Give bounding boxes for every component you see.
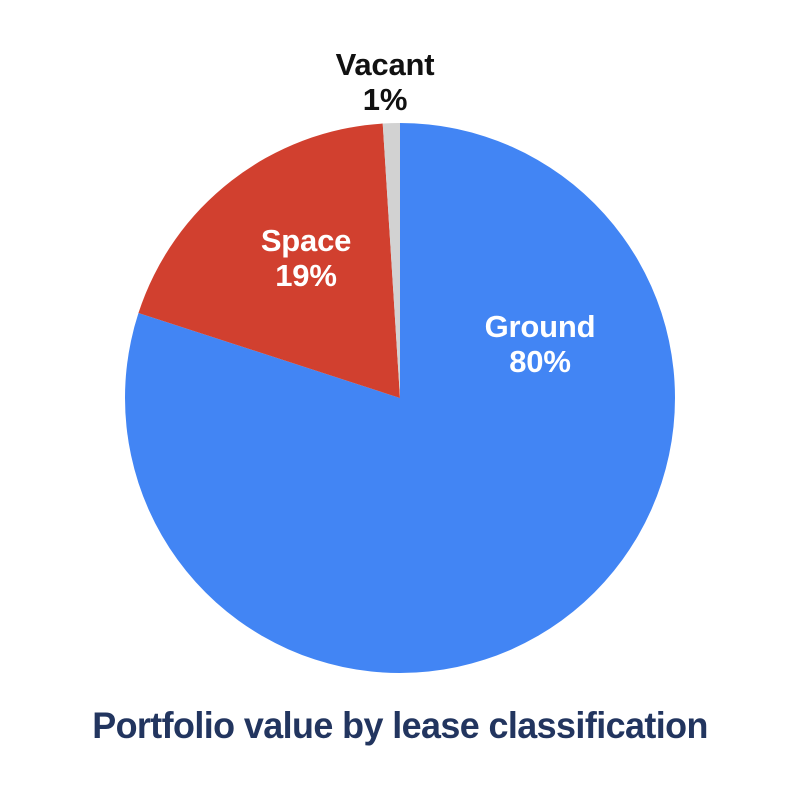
pie-chart-figure: Ground 80% Space 19% Vacant 1% Portfolio… [0, 0, 800, 800]
pie-slices [125, 123, 675, 673]
pie-label-ground: Ground 80% [400, 310, 680, 379]
pie-label-space-value: 19% [186, 259, 426, 294]
chart-title: Portfolio value by lease classification [12, 705, 788, 747]
pie-label-ground-value: 80% [400, 345, 680, 380]
pie-label-vacant-value: 1% [265, 83, 505, 118]
chart-plot-area: Ground 80% Space 19% Vacant 1% [0, 0, 800, 690]
pie-label-space: Space 19% [186, 224, 426, 293]
pie-label-ground-name: Ground [400, 310, 680, 345]
pie-label-vacant-name: Vacant [265, 48, 505, 83]
pie-label-space-name: Space [186, 224, 426, 259]
pie-label-vacant: Vacant 1% [265, 48, 505, 117]
